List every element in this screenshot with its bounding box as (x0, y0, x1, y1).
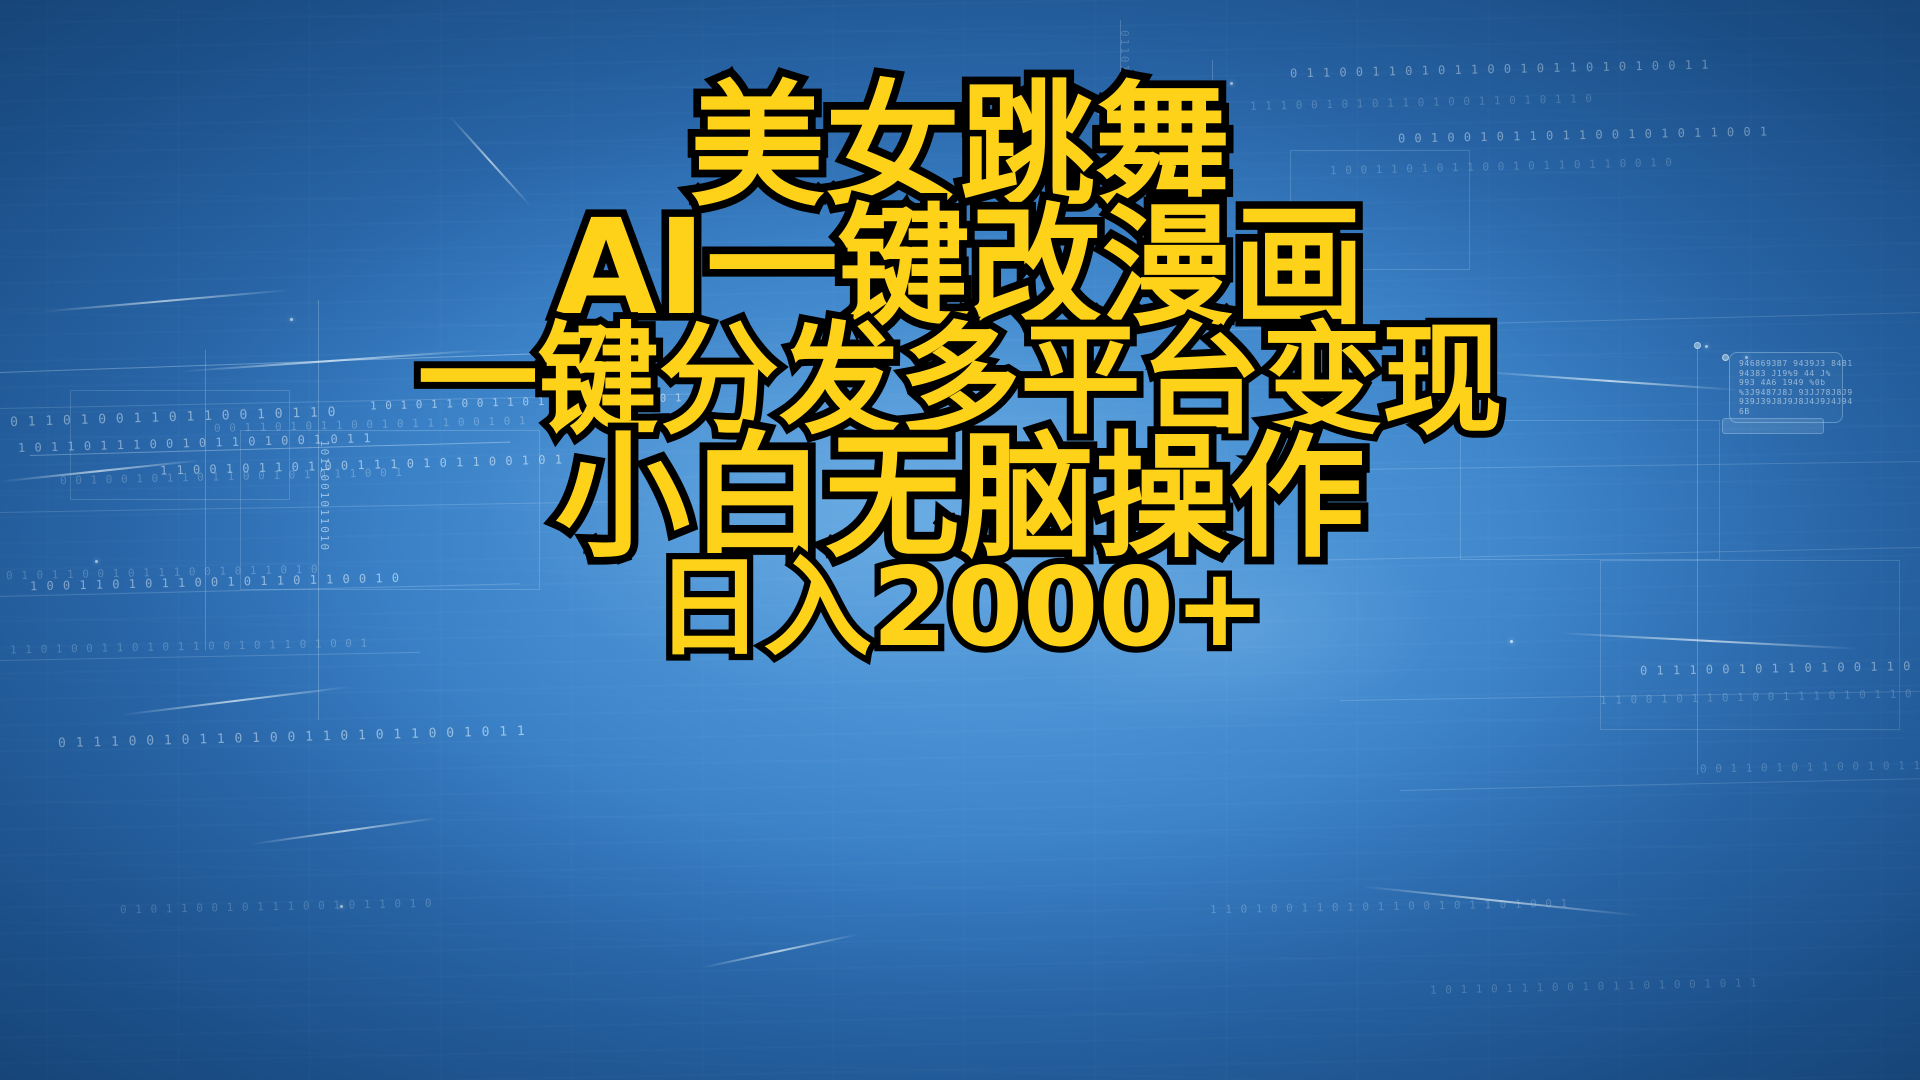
headline-line-5: 日入2000+ (655, 553, 1265, 664)
headline-block: 美女跳舞 AI一键改漫画 一键分发多平台变现 小白无脑操作 日入2000+ (0, 78, 1920, 663)
promo-poster: 0 1 1 0 1 0 0 1 1 0 1 1 0 0 1 0 1 1 0 1 … (0, 0, 1920, 1080)
